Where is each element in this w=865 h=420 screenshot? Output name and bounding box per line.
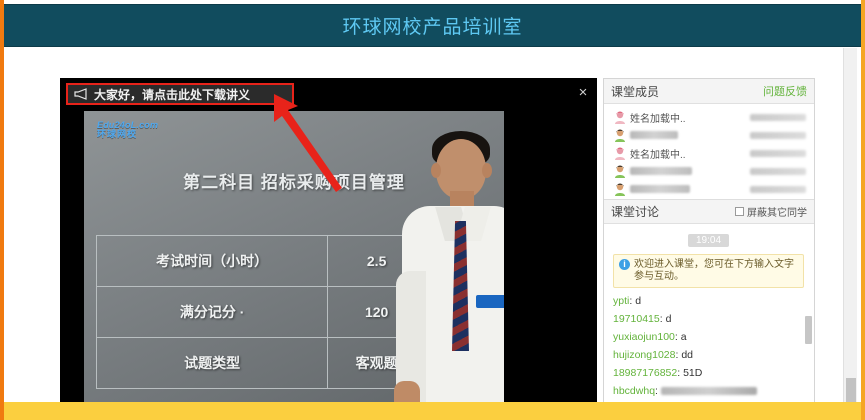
slide-watermark: Edu24oL.com 环球网校 — [97, 121, 158, 140]
info-icon: i — [619, 259, 630, 270]
member-name — [630, 185, 690, 193]
instructor-ear-right — [482, 163, 492, 178]
chat-message: hujizong1028: dd — [613, 349, 804, 361]
chat-text: 51D — [683, 367, 702, 379]
member-meta-blur — [750, 114, 806, 121]
announcement-banner[interactable]: 大家好，请点击此处下载讲义 — [66, 83, 294, 105]
chat-message: hbcdwhq: — [613, 385, 804, 397]
chat-username: 18987176852 — [613, 367, 677, 379]
list-item[interactable] — [604, 162, 814, 180]
lecture-slide: Edu24oL.com 环球网校 第二科目 招标采购项目管理 考试时间（小时） … — [84, 111, 504, 420]
members-panel-title: 课堂成员 — [611, 83, 659, 100]
discussion-panel-header: 课堂讨论 屏蔽其它同学 — [604, 200, 814, 224]
member-name: 姓名加载中.. — [630, 146, 686, 161]
member-name — [630, 167, 692, 175]
list-item[interactable]: 姓名加载中.. — [604, 144, 814, 162]
system-message-text: 欢迎进入课堂，您可在下方输入文字参与互动。 — [634, 259, 798, 283]
chat-message: 18987176852: 51D — [613, 367, 804, 379]
user-male-icon — [614, 183, 626, 196]
chat-message: 19710415: d — [613, 313, 804, 325]
chat-scrollbar[interactable] — [805, 316, 812, 344]
list-item[interactable]: 姓名加载中.. — [604, 108, 814, 126]
list-item[interactable] — [604, 180, 814, 198]
chat-timestamp-wrap: 19:04 — [613, 230, 804, 248]
slide-table: 考试时间（小时） 2.5 满分记分 · 120 试题类型 客观题 — [96, 235, 426, 389]
chat-message: ypti: d — [613, 295, 804, 307]
user-male-icon — [614, 129, 626, 142]
page-root: 环球网校产品培训室 Edu24oL.com 环球网校 第二科目 招标采购项目管理… — [0, 0, 865, 420]
footer-banner-inner — [8, 402, 847, 420]
user-male-icon — [614, 165, 626, 178]
system-message: i 欢迎进入课堂，您可在下方输入文字参与互动。 — [613, 254, 804, 288]
slide-row-label: 满分记分 · — [97, 287, 328, 338]
member-meta-blur — [750, 132, 806, 139]
table-row: 考试时间（小时） 2.5 — [97, 236, 426, 287]
chat-text: d — [666, 313, 672, 325]
classroom-sidebar: 课堂成员 问题反馈 姓名加载中.. — [603, 78, 815, 420]
classroom-stage: Edu24oL.com 环球网校 第二科目 招标采购项目管理 考试时间（小时） … — [60, 78, 815, 420]
watermark-cn: 环球网校 — [97, 130, 158, 139]
slide-row-label: 试题类型 — [97, 338, 328, 389]
chat-text: dd — [681, 349, 693, 361]
member-meta-blur — [750, 168, 806, 175]
announcement-text: 大家好，请点击此处下载讲义 — [94, 86, 250, 103]
chat-username: hbcdwhq — [613, 385, 655, 397]
footer-banner — [4, 402, 865, 420]
member-name: 姓名加载中.. — [630, 110, 686, 125]
chat-text: d — [635, 295, 641, 307]
feedback-link[interactable]: 问题反馈 — [763, 83, 807, 99]
discussion-panel-title: 课堂讨论 — [611, 203, 659, 220]
mute-others-label: 屏蔽其它同学 — [747, 204, 807, 219]
instructor-ear-left — [431, 163, 441, 178]
list-item[interactable] — [604, 126, 814, 144]
chat-username: yuxiaojun100 — [613, 331, 675, 343]
chat-text: a — [681, 331, 687, 343]
page-scrollbar[interactable] — [843, 48, 857, 420]
members-panel-header: 课堂成员 问题反馈 — [604, 79, 814, 104]
table-row: 试题类型 客观题 — [97, 338, 426, 389]
user-female-icon — [614, 111, 626, 124]
member-name — [630, 131, 678, 139]
user-female-icon — [614, 147, 626, 160]
slide-row-label: 考试时间（小时） — [97, 236, 328, 287]
chat-message: yuxiaojun100: a — [613, 331, 804, 343]
members-list[interactable]: 姓名加载中.. — [604, 104, 814, 200]
mute-others-toggle[interactable]: 屏蔽其它同学 — [735, 204, 807, 219]
chat-text-blur — [661, 387, 757, 395]
page-title: 环球网校产品培训室 — [342, 12, 522, 39]
table-row: 满分记分 · 120 — [97, 287, 426, 338]
chat-username: 19710415 — [613, 313, 660, 325]
video-player[interactable]: Edu24oL.com 环球网校 第二科目 招标采购项目管理 考试时间（小时） … — [60, 78, 597, 420]
chat-username: ypti — [613, 295, 629, 307]
megaphone-icon — [73, 88, 89, 100]
chat-log[interactable]: 19:04 i 欢迎进入课堂，您可在下方输入文字参与互动。 ypti: d 19… — [604, 224, 814, 419]
instructor-video — [384, 111, 504, 420]
close-icon[interactable]: × — [575, 85, 591, 101]
member-meta-blur — [750, 186, 806, 193]
chat-username: hujizong1028 — [613, 349, 675, 361]
instructor-head — [436, 139, 486, 199]
chat-timestamp: 19:04 — [688, 234, 729, 247]
member-meta-blur — [750, 150, 806, 157]
checkbox-icon[interactable] — [735, 207, 744, 216]
instructor-name-badge — [476, 295, 504, 308]
app-header: 环球网校产品培训室 — [4, 4, 861, 47]
